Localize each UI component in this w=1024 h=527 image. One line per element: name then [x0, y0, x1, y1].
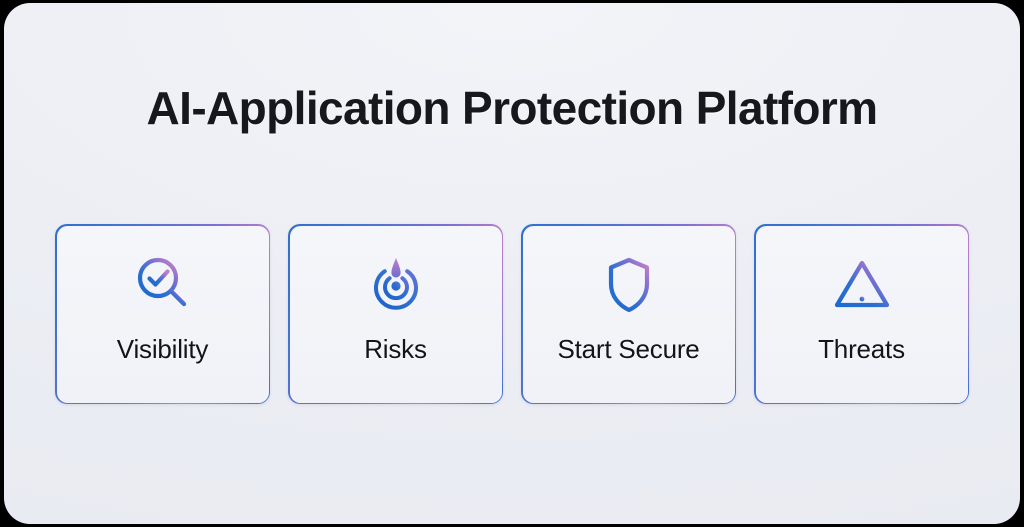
feature-card-row: Visibility — [4, 224, 1020, 404]
warning-triangle-icon — [830, 253, 894, 317]
shield-icon — [597, 253, 661, 317]
feature-card-label: Threats — [818, 333, 905, 365]
feature-card-label: Risks — [364, 333, 427, 365]
platform-panel: AI-Application Protection Platform — [4, 3, 1020, 524]
feature-card-label: Start Secure — [557, 333, 699, 365]
feature-card-start-secure[interactable]: Start Secure — [521, 224, 736, 404]
screenshot-stage: AI-Application Protection Platform — [0, 0, 1024, 527]
feature-card-visibility[interactable]: Visibility — [55, 224, 270, 404]
magnifier-check-icon — [131, 253, 195, 317]
page-title: AI-Application Protection Platform — [4, 79, 1020, 137]
feature-card-label: Visibility — [117, 333, 208, 365]
feature-card-threats[interactable]: Threats — [754, 224, 969, 404]
feature-card-risks[interactable]: Risks — [288, 224, 503, 404]
radar-alert-icon — [364, 253, 428, 317]
